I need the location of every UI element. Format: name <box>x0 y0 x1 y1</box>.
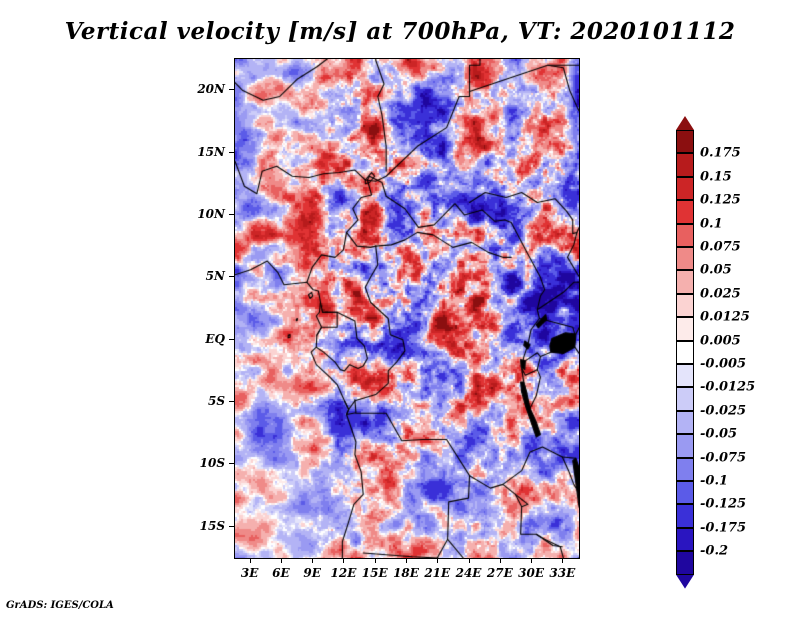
y-axis-tick-mark <box>229 89 234 90</box>
x-axis-tick-mark <box>406 558 407 563</box>
y-axis-tick-mark <box>229 152 234 153</box>
y-axis-tick-label: 5S <box>208 394 225 408</box>
colorbar-cell <box>676 317 694 340</box>
x-axis-tick-label: 12E <box>331 566 357 580</box>
x-axis-tick-mark <box>312 558 313 563</box>
y-axis-tick-label: EQ <box>205 332 225 346</box>
x-axis-tick-mark <box>562 558 563 563</box>
colorbar-cell <box>676 504 694 527</box>
colorbar-cell <box>676 458 694 481</box>
colorbar-tick-label: -0.0125 <box>700 380 755 395</box>
x-axis-tick-mark <box>375 558 376 563</box>
colorbar-tick-label: 0.0125 <box>700 310 750 325</box>
y-axis-tick-label: 15S <box>200 519 225 533</box>
colorbar-tick-label: -0.2 <box>700 544 728 559</box>
colorbar-cell <box>676 130 694 153</box>
colorbar-cell <box>676 247 694 270</box>
x-axis-tick-label: 6E <box>272 566 290 580</box>
colorbar-tick-label: -0.125 <box>700 497 746 512</box>
x-axis-tick-mark <box>437 558 438 563</box>
y-axis-tick-label: 15N <box>197 145 225 159</box>
country-borders-overlay <box>235 59 579 558</box>
y-axis-tick-label: 10N <box>197 207 225 221</box>
colorbar-cell <box>676 387 694 410</box>
y-axis-tick-label: 20N <box>197 82 225 96</box>
colorbar-cell <box>676 153 694 176</box>
x-axis-tick-mark <box>250 558 251 563</box>
y-axis-tick-label: 5N <box>206 269 225 283</box>
x-axis-tick-label: 33E <box>549 566 575 580</box>
colorbar-tick-label: -0.05 <box>700 427 737 442</box>
x-axis-tick-label: 9E <box>303 566 321 580</box>
colorbar-tick-label: 0.005 <box>700 333 741 348</box>
map-plot-area <box>234 58 580 559</box>
colorbar-cell <box>676 481 694 504</box>
x-axis-tick-mark <box>500 558 501 563</box>
colorbar-cell <box>676 294 694 317</box>
colorbar-tick-label: -0.025 <box>700 403 746 418</box>
credit-label: GrADS: IGES/COLA <box>6 600 114 611</box>
colorbar-arrow-top <box>676 116 694 130</box>
x-axis-tick-mark <box>343 558 344 563</box>
colorbar-cell <box>676 270 694 293</box>
x-axis-tick-label: 18E <box>393 566 419 580</box>
colorbar-tick-label: 0.125 <box>700 193 741 208</box>
colorbar-cell <box>676 528 694 551</box>
y-axis-tick-mark <box>229 214 234 215</box>
colorbar-tick-label: 0.05 <box>700 263 732 278</box>
colorbar-tick-label: -0.1 <box>700 474 728 489</box>
x-axis-tick-label: 27E <box>487 566 513 580</box>
x-axis-tick-mark <box>469 558 470 563</box>
y-axis-tick-mark <box>229 401 234 402</box>
x-axis-tick-label: 24E <box>456 566 482 580</box>
colorbar-tick-label: -0.175 <box>700 520 746 535</box>
colorbar-cell <box>676 551 694 574</box>
colorbar-cell <box>676 411 694 434</box>
colorbar-cell <box>676 224 694 247</box>
x-axis-tick-mark <box>531 558 532 563</box>
colorbar-tick-label: 0.025 <box>700 286 741 301</box>
colorbar-cell <box>676 200 694 223</box>
page-title: Vertical velocity [m/s] at 700hPa, VT: 2… <box>0 18 800 45</box>
colorbar-tick-label: 0.15 <box>700 169 732 184</box>
colorbar-tick-label: 0.1 <box>700 216 723 231</box>
colorbar-tick-label: 0.175 <box>700 146 741 161</box>
colorbar-tick-label: -0.005 <box>700 357 746 372</box>
y-axis-tick-mark <box>229 463 234 464</box>
x-axis-tick-label: 15E <box>362 566 388 580</box>
y-axis-tick-label: 10S <box>200 456 225 470</box>
colorbar-tick-label: -0.075 <box>700 450 746 465</box>
colorbar-tick-label: 0.075 <box>700 240 741 255</box>
colorbar-cell <box>676 364 694 387</box>
x-axis-tick-mark <box>281 558 282 563</box>
x-axis-tick-label: 30E <box>518 566 544 580</box>
x-axis-tick-label: 3E <box>241 566 259 580</box>
y-axis-tick-mark <box>229 276 234 277</box>
y-axis-tick-mark <box>229 526 234 527</box>
y-axis-tick-mark <box>229 339 234 340</box>
colorbar-cell <box>676 177 694 200</box>
x-axis-tick-label: 21E <box>424 566 450 580</box>
colorbar-cell <box>676 341 694 364</box>
colorbar-cell <box>676 434 694 457</box>
colorbar-arrow-bottom <box>676 575 694 589</box>
